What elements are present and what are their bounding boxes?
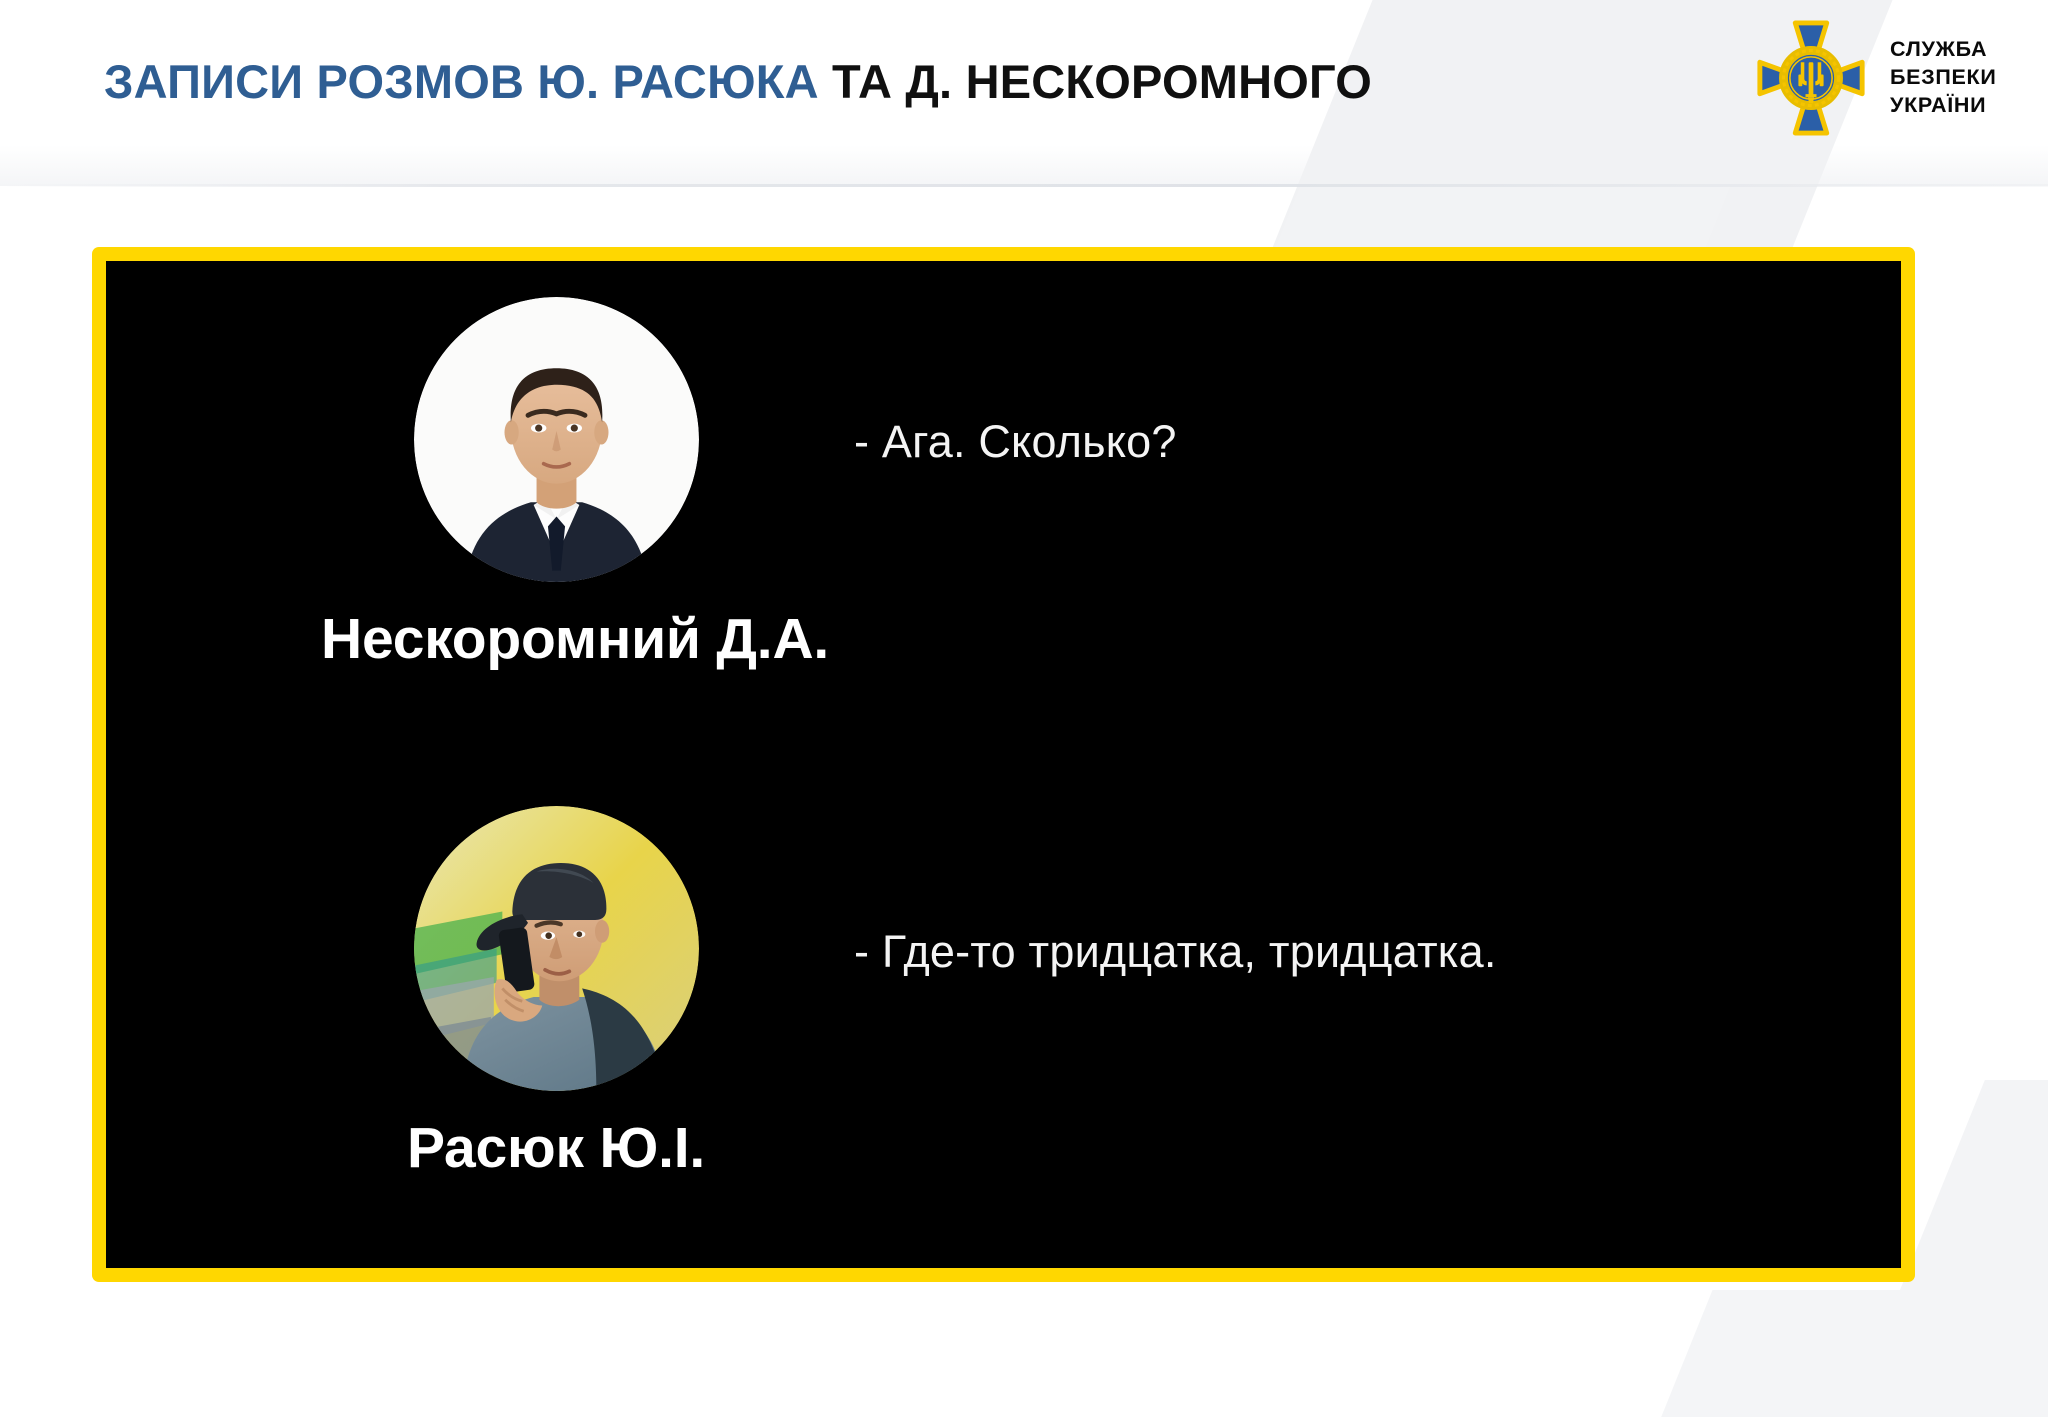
dialogue-line: - Ага. Сколько? [854, 416, 1177, 468]
sbu-cross-emblem-icon [1752, 19, 1870, 137]
page-title-rest: ТА Д. НЕСКОРОМНОГО [819, 55, 1372, 108]
sbu-logo-text: СЛУЖБА БЕЗПЕКИ УКРАЇНИ [1890, 36, 1997, 120]
speaker-name: Расюк Ю.І. [321, 1115, 791, 1181]
speaker-block-2: Расюк Ю.І. [321, 806, 791, 1181]
page-title: ЗАПИСИ РОЗМОВ Ю. РАСЮКА ТА Д. НЕСКОРОМНО… [104, 56, 1372, 108]
dialogue-row: Расюк Ю.І. - Где-то тридцатка, тридцатка… [106, 781, 1901, 1268]
sbu-logo-line-2: БЕЗПЕКИ [1890, 65, 1997, 89]
avatar-rasiuk [414, 806, 699, 1091]
avatar-neskoromnyi [414, 297, 699, 582]
sbu-logo-line-3: УКРАЇНИ [1890, 93, 1986, 117]
speaker-name: Нескоромний Д.А. [321, 606, 791, 672]
evidence-screen: Нескоромний Д.А. - Ага. Сколько? [106, 261, 1901, 1268]
speaker-block-1: Нескоромний Д.А. [321, 297, 791, 672]
slide-header: ЗАПИСИ РОЗМОВ Ю. РАСЮКА ТА Д. НЕСКОРОМНО… [0, 0, 2048, 186]
dialogue-row: Нескоромний Д.А. - Ага. Сколько? [106, 261, 1901, 781]
evidence-panel: Нескоромний Д.А. - Ага. Сколько? [92, 247, 1915, 1282]
dialogue-line: - Где-то тридцатка, тридцатка. [854, 926, 1497, 978]
sbu-logo: СЛУЖБА БЕЗПЕКИ УКРАЇНИ [1752, 18, 2020, 138]
page-title-accent: ЗАПИСИ РОЗМОВ Ю. РАСЮКА [104, 55, 819, 108]
sbu-logo-line-1: СЛУЖБА [1890, 37, 1987, 61]
background-diagonal-band-4 [1607, 1290, 2048, 1417]
